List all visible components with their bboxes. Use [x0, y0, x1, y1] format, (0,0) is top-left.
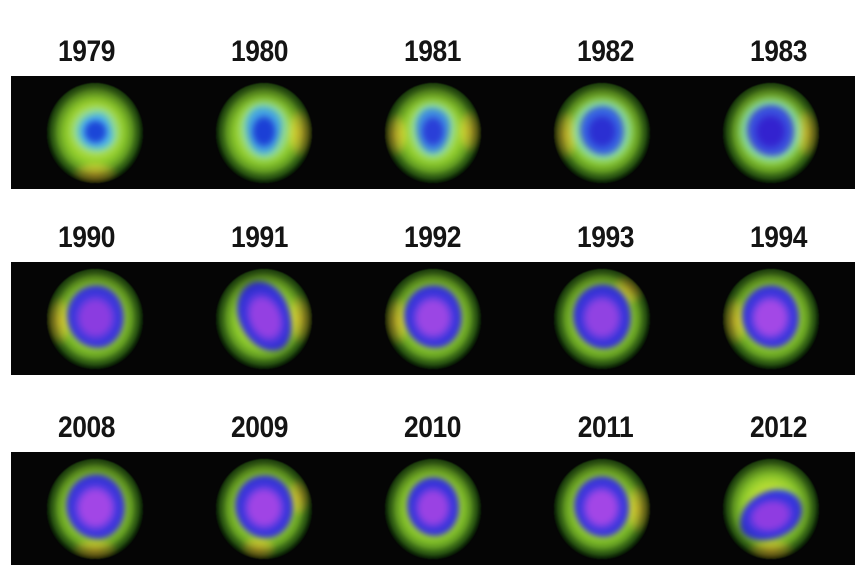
ozone-globe-2012 — [723, 459, 819, 559]
ozone-hole-core — [407, 477, 459, 535]
year-label: 1992 — [356, 214, 508, 262]
year-row-1: 1979 1980 1981 1982 1983 — [0, 28, 865, 189]
year-label: 1979 — [10, 28, 162, 76]
globe-cell — [180, 76, 349, 189]
ozone-hole-core — [66, 474, 124, 539]
ozone-globe-1991 — [216, 269, 312, 369]
globe-cell — [180, 262, 349, 375]
ozone-hole-core — [742, 285, 799, 349]
ozone-hole-core — [580, 106, 624, 155]
globe-cell — [686, 76, 855, 189]
globe-cell — [349, 262, 518, 375]
year-row-3: 2008 2009 2010 2011 2012 — [0, 404, 865, 565]
year-label: 2008 — [10, 404, 162, 452]
ozone-hole-core — [747, 105, 793, 157]
image-band-1 — [11, 76, 855, 189]
ozone-globe-1992 — [385, 269, 481, 369]
year-label: 1993 — [529, 214, 681, 262]
ozone-hole-core — [404, 285, 461, 349]
globe-cell — [349, 76, 518, 189]
year-label-row-2: 1990 1991 1992 1993 1994 — [0, 214, 865, 262]
year-label: 1990 — [10, 214, 162, 262]
globe-cell — [517, 262, 686, 375]
globe-cell — [517, 452, 686, 565]
ozone-hole-core — [574, 476, 629, 538]
ozone-globe-2009 — [216, 459, 312, 559]
year-label-row-3: 2008 2009 2010 2011 2012 — [0, 404, 865, 452]
ozone-hole-core — [235, 475, 292, 539]
year-label: 2009 — [183, 404, 335, 452]
year-label-row-1: 1979 1980 1981 1982 1983 — [0, 28, 865, 76]
globe-cell — [11, 452, 180, 565]
ozone-globe-2010 — [385, 459, 481, 559]
year-label: 2011 — [529, 404, 681, 452]
image-band-2 — [11, 262, 855, 375]
globe-cell — [180, 452, 349, 565]
ozone-globe-1994 — [723, 269, 819, 369]
year-label: 2010 — [356, 404, 508, 452]
ozone-globe-1979 — [47, 83, 143, 183]
ozone-globe-1983 — [723, 83, 819, 183]
globe-cell — [11, 76, 180, 189]
year-label: 2012 — [702, 404, 854, 452]
ozone-hole-core — [78, 113, 113, 149]
ozone-globe-2008 — [47, 459, 143, 559]
year-label: 1982 — [529, 28, 681, 76]
year-label: 1991 — [183, 214, 335, 262]
ozone-hole-core — [67, 285, 123, 348]
ozone-globe-2011 — [554, 459, 650, 559]
ozone-hole-core — [573, 284, 631, 349]
ozone-globe-1982 — [554, 83, 650, 183]
ozone-hole-figure: 1979 1980 1981 1982 1983 1990 1991 1992 … — [0, 0, 865, 587]
ozone-globe-1980 — [216, 83, 312, 183]
year-label: 1983 — [702, 28, 854, 76]
globe-cell — [686, 262, 855, 375]
year-label: 1980 — [183, 28, 335, 76]
ozone-globe-1993 — [554, 269, 650, 369]
globe-cell — [349, 452, 518, 565]
ozone-globe-1990 — [47, 269, 143, 369]
globe-cell — [517, 76, 686, 189]
ozone-globe-1981 — [385, 83, 481, 183]
globe-cell — [686, 452, 855, 565]
image-band-3 — [11, 452, 855, 565]
year-row-2: 1990 1991 1992 1993 1994 — [0, 214, 865, 375]
globe-cell — [11, 262, 180, 375]
year-label: 1981 — [356, 28, 508, 76]
year-label: 1994 — [702, 214, 854, 262]
